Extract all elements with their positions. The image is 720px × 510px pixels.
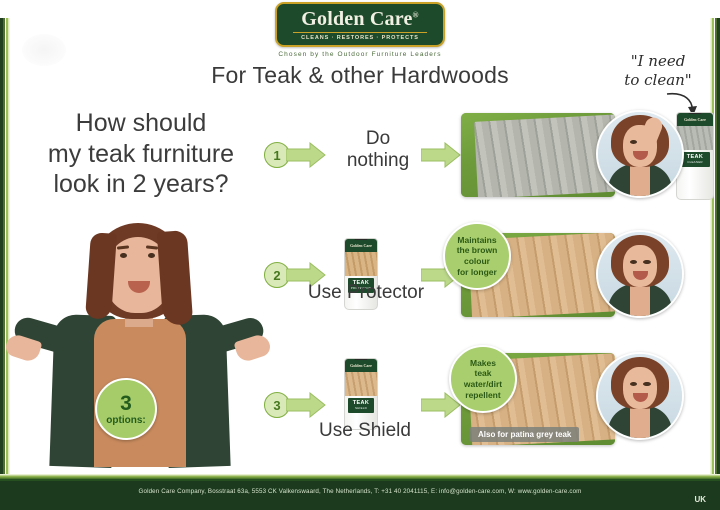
logo-divider <box>293 32 427 33</box>
hero-hair-front-right <box>157 230 193 326</box>
face-circle-1 <box>596 110 684 198</box>
quote-line-2: to clean" <box>604 71 712 90</box>
options-badge-label: options: <box>106 415 145 426</box>
quote-line-1: "I need <box>604 52 712 71</box>
question-line-3: look in 2 years? <box>16 169 266 200</box>
benefit-bubble-2-line-3: colour <box>457 256 498 267</box>
step-label-2: Use Protector <box>296 282 436 304</box>
bottle-cleaner-brand: Golden Care <box>677 113 713 126</box>
hero-eye-left <box>120 253 127 258</box>
footer: Golden Care Company, Bosstraat 63a, 5553… <box>0 474 720 510</box>
bottle-shield-brand: Golden Care <box>345 359 377 372</box>
face-skin-3 <box>623 367 657 409</box>
logo-tagline: CLEANS · RESTORES · PROTECTS <box>287 35 433 41</box>
bottle-shield-photo <box>345 372 377 396</box>
question-line-2: my teak furniture <box>16 139 266 170</box>
bottle-protector-photo <box>345 252 377 276</box>
poster: Golden Care® CLEANS · RESTORES · PROTECT… <box>0 0 720 510</box>
bottle-protector-cap <box>355 238 368 240</box>
arrow-step-3-to-label <box>286 392 326 418</box>
step-label-1-line-1: Do <box>330 128 426 150</box>
bottle-shield-label: TEAK SHIELD <box>348 398 374 413</box>
benefit-bubble-3-line-1: Makes <box>464 358 502 369</box>
bottle-shield-variant: SHIELD <box>348 406 374 410</box>
step-label-3: Use Shield <box>300 420 430 442</box>
handwritten-quote: "I need to clean" <box>604 52 712 90</box>
logo-name: Golden Care <box>301 8 412 30</box>
logo-subtagline: Chosen by the Outdoor Furniture Leaders <box>275 51 445 58</box>
question-line-1: How should <box>16 108 266 139</box>
face-skin-2 <box>623 245 657 287</box>
face-circle-2 <box>596 230 684 318</box>
face-chest-3 <box>630 406 650 440</box>
benefit-bubble-3-line-2: teak <box>464 368 502 379</box>
step-badge-2-number: 2 <box>273 268 280 283</box>
benefit-bubble-2: Maintains the brown colour for longer <box>443 222 511 290</box>
step-badge-1-number: 1 <box>273 148 280 163</box>
result-photo-1 <box>461 113 615 197</box>
question-block: How should my teak furniture look in 2 y… <box>16 108 266 200</box>
face-chest-1 <box>630 164 650 198</box>
bottle-shield-cap <box>355 358 368 360</box>
hero-eye-right <box>148 253 155 258</box>
step-label-1: Do nothing <box>330 128 426 172</box>
footer-region-label: UK <box>694 495 706 504</box>
brand-logo: Golden Care® CLEANS · RESTORES · PROTECT… <box>275 2 445 58</box>
step-label-1-line-2: nothing <box>330 150 426 172</box>
benefit-bubble-3: Makes teak water/dirt repellent <box>449 345 517 413</box>
benefit-bubble-3-line-4: repellent <box>464 390 502 401</box>
benefit-bubble-2-line-1: Maintains <box>457 235 498 246</box>
step-label-2-line-1: Use Protector <box>296 282 436 304</box>
benefit-bubble-3-line-3: water/dirt <box>464 379 502 390</box>
arrow-step-1-to-label <box>286 142 326 168</box>
bottle-cleaner-variant: CLEANER <box>680 160 710 164</box>
options-badge-number: 3 <box>120 393 132 414</box>
bottle-cleaner-label: TEAK CLEANER <box>680 152 710 167</box>
patina-caption: Also for patina grey teak <box>470 427 579 442</box>
face-eye-right-2 <box>643 260 651 264</box>
arrow-label-1-to-result <box>421 142 461 168</box>
grey-decking-1 <box>474 114 615 197</box>
footer-stripe-band <box>0 474 720 481</box>
step-label-3-line-1: Use Shield <box>300 420 430 442</box>
face-eye-right-3 <box>643 382 651 386</box>
face-chest-2 <box>630 284 650 318</box>
footer-company-info: Golden Care Company, Bosstraat 63a, 5553… <box>0 488 720 495</box>
bottle-protector-brand: Golden Care <box>345 239 377 252</box>
logo-trademark: ® <box>413 10 419 19</box>
bottle-cleaner-cap <box>689 112 702 114</box>
options-badge: 3 options: <box>95 378 157 440</box>
face-circle-3 <box>596 352 684 440</box>
logo-box: Golden Care® CLEANS · RESTORES · PROTECT… <box>275 2 445 47</box>
logo-wordmark: Golden Care® <box>287 9 433 30</box>
benefit-bubble-3-text: Makes teak water/dirt repellent <box>464 358 502 400</box>
step-badge-3-number: 3 <box>273 398 280 413</box>
benefit-bubble-2-text: Maintains the brown colour for longer <box>457 235 498 277</box>
benefit-bubble-2-line-4: for longer <box>457 267 498 278</box>
benefit-bubble-2-line-2: the brown <box>457 245 498 256</box>
